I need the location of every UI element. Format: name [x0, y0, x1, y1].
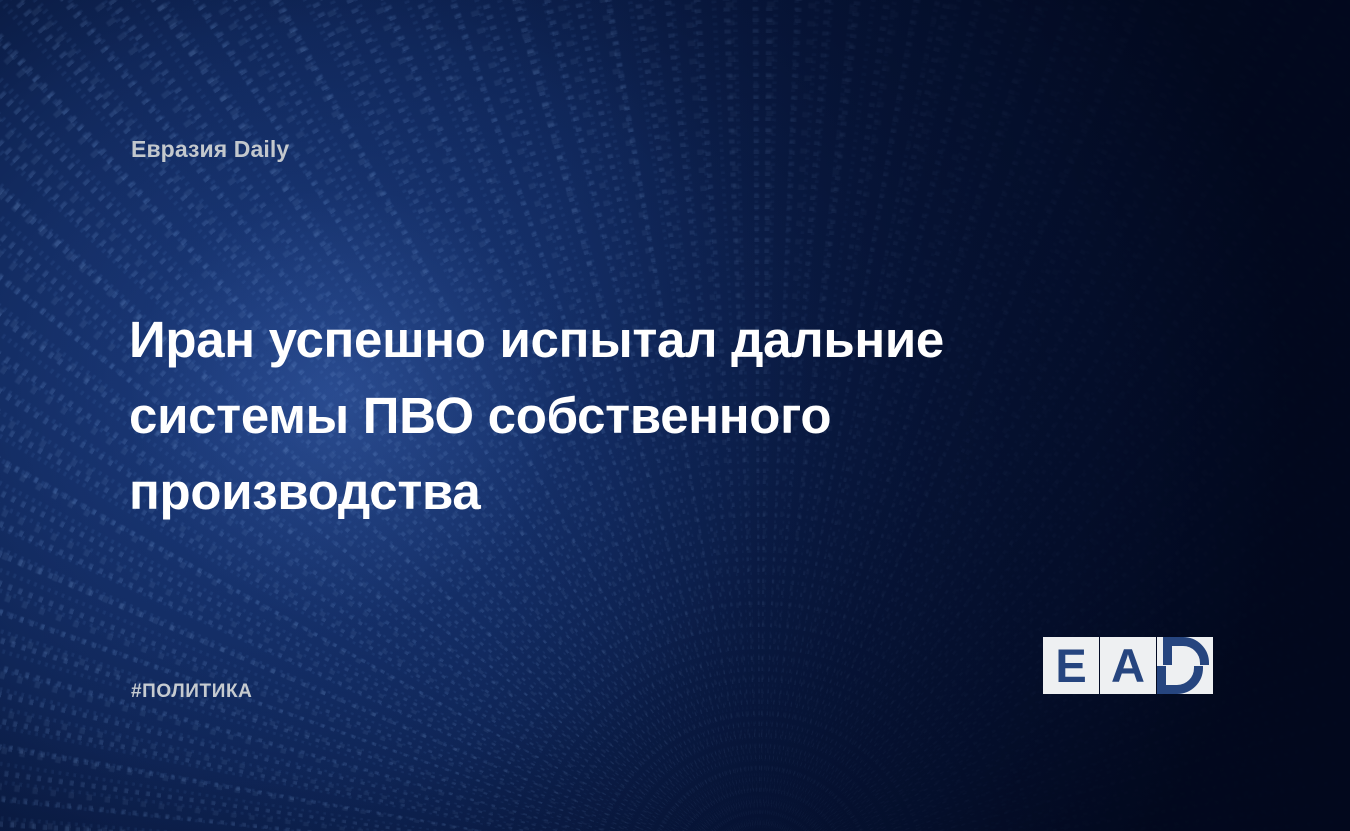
eadaily-logo: E A	[1043, 637, 1223, 697]
logo-letter-e: E	[1043, 637, 1099, 694]
card-content: Евразия Daily Иран успешно испытал дальн…	[0, 0, 1350, 831]
logo-letter-d	[1157, 637, 1223, 694]
site-name: Евразия Daily	[131, 136, 289, 163]
logo-letter-a: A	[1100, 637, 1156, 694]
category-hashtag: #ПОЛИТИКА	[131, 681, 253, 703]
news-share-card: Евразия Daily Иран успешно испытал дальн…	[0, 0, 1350, 831]
logo-letter-d-top-half	[1157, 637, 1223, 665]
page-title: Иран успешно испытал дальние системы ПВО…	[129, 302, 1029, 530]
logo-letter-d-bottom-half	[1157, 666, 1223, 694]
